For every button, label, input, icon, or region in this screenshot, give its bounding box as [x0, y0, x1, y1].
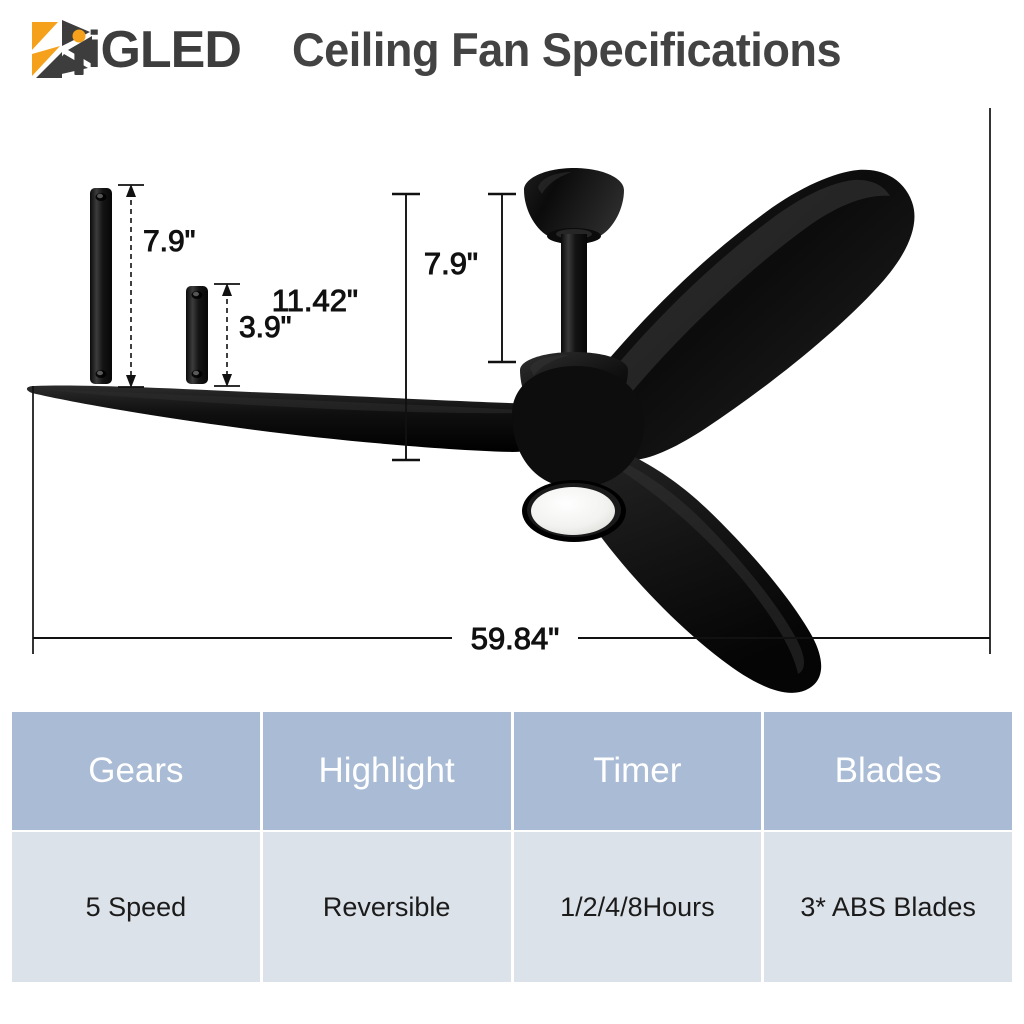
- dim-label-overall-drop: 11.42": [272, 283, 358, 318]
- page-header: iGLED Ceiling Fan Specifications: [0, 0, 1024, 92]
- ceiling-fan-dimension-diagram: 7.9" 3.9" 11.42": [0, 84, 1024, 700]
- spec-header-gears: Gears: [12, 712, 260, 830]
- brand-name-text: iGLED: [87, 20, 241, 80]
- page-title: Ceiling Fan Specifications: [292, 22, 841, 77]
- brand-wordmark: iGLED: [72, 20, 241, 80]
- dim-label-downrod-long: 7.9": [143, 225, 195, 258]
- spec-table-value-row: 5 Speed Reversible 1/2/4/8Hours 3* ABS B…: [12, 832, 1012, 982]
- specifications-table: Gears Highlight Timer Blades 5 Speed Rev…: [12, 712, 1012, 982]
- dim-rod-drop: [488, 194, 516, 362]
- logo-i-dot-icon: [72, 23, 86, 77]
- spec-value-gears: 5 Speed: [12, 832, 260, 982]
- spec-value-highlight: Reversible: [263, 832, 511, 982]
- dim-blade-span: [33, 108, 990, 654]
- dim-label-rod-drop: 7.9": [424, 246, 478, 281]
- dim-downrod-short: [214, 283, 240, 387]
- dim-overall-drop: [392, 194, 420, 460]
- spec-value-blades: 3* ABS Blades: [764, 832, 1012, 982]
- spec-value-timer: 1/2/4/8Hours: [514, 832, 762, 982]
- spec-header-timer: Timer: [514, 712, 762, 830]
- spec-header-highlight: Highlight: [263, 712, 511, 830]
- spec-header-blades: Blades: [764, 712, 1012, 830]
- dim-label-blade-span: 59.84": [471, 621, 560, 656]
- spec-table-header-row: Gears Highlight Timer Blades: [12, 712, 1012, 830]
- dimension-annotations: 7.9" 3.9" 11.42": [0, 84, 1024, 700]
- dim-downrod-long: [118, 184, 144, 388]
